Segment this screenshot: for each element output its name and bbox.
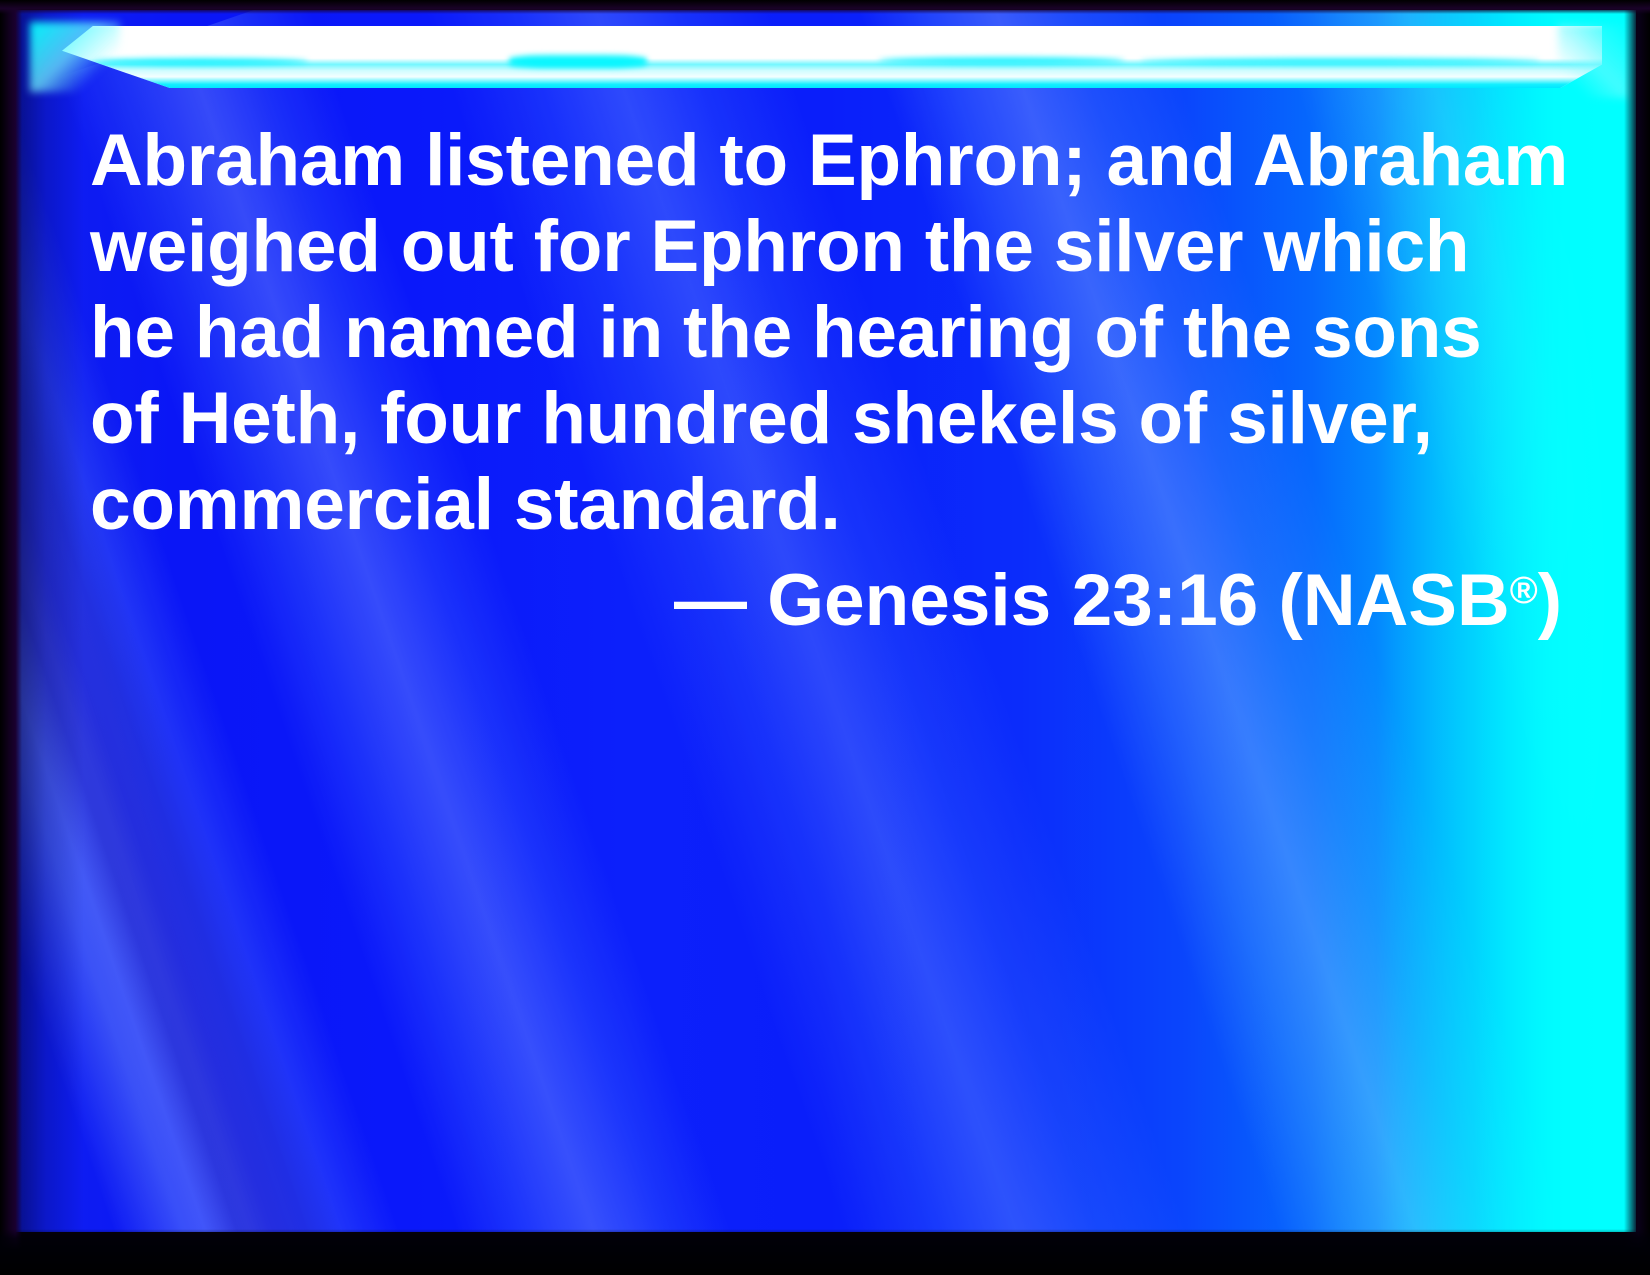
slide-border-top <box>0 0 1650 14</box>
registered-trademark-icon: ® <box>1510 570 1538 612</box>
citation-prefix: — Genesis 23:16 (NASB <box>674 560 1510 641</box>
banner-right-glow <box>1558 24 1628 98</box>
slide-border-left <box>0 0 22 1275</box>
banner-wisp-2 <box>509 55 648 69</box>
banner-wisp-1 <box>93 58 309 65</box>
top-banner-glow <box>62 26 1602 88</box>
verse-text-block: Abraham listened to Ephron; and Abraham … <box>90 118 1570 644</box>
banner-wisp-3 <box>878 57 1124 64</box>
background-left-shading <box>14 10 84 1232</box>
banner-wisp-4 <box>1140 58 1540 64</box>
slide-border-bottom <box>0 1229 1650 1275</box>
slide-border-right <box>1624 0 1650 1275</box>
verse-line-4: of Heth, four hundred shekels of silver, <box>90 376 1570 462</box>
citation-suffix: ) <box>1538 560 1562 641</box>
slide-canvas: Abraham listened to Ephron; and Abraham … <box>14 10 1636 1232</box>
verse-slide: Abraham listened to Ephron; and Abraham … <box>0 0 1650 1275</box>
top-banner <box>62 26 1602 88</box>
verse-citation: — Genesis 23:16 (NASB®) <box>90 548 1570 644</box>
verse-line-3: he had named in the hearing of the sons <box>90 290 1570 376</box>
verse-line-5: commercial standard. <box>90 462 1570 548</box>
verse-line-2: weighed out for Ephron the silver which <box>90 204 1570 290</box>
banner-left-glow <box>30 22 120 92</box>
verse-line-1: Abraham listened to Ephron; and Abraham <box>90 118 1570 204</box>
